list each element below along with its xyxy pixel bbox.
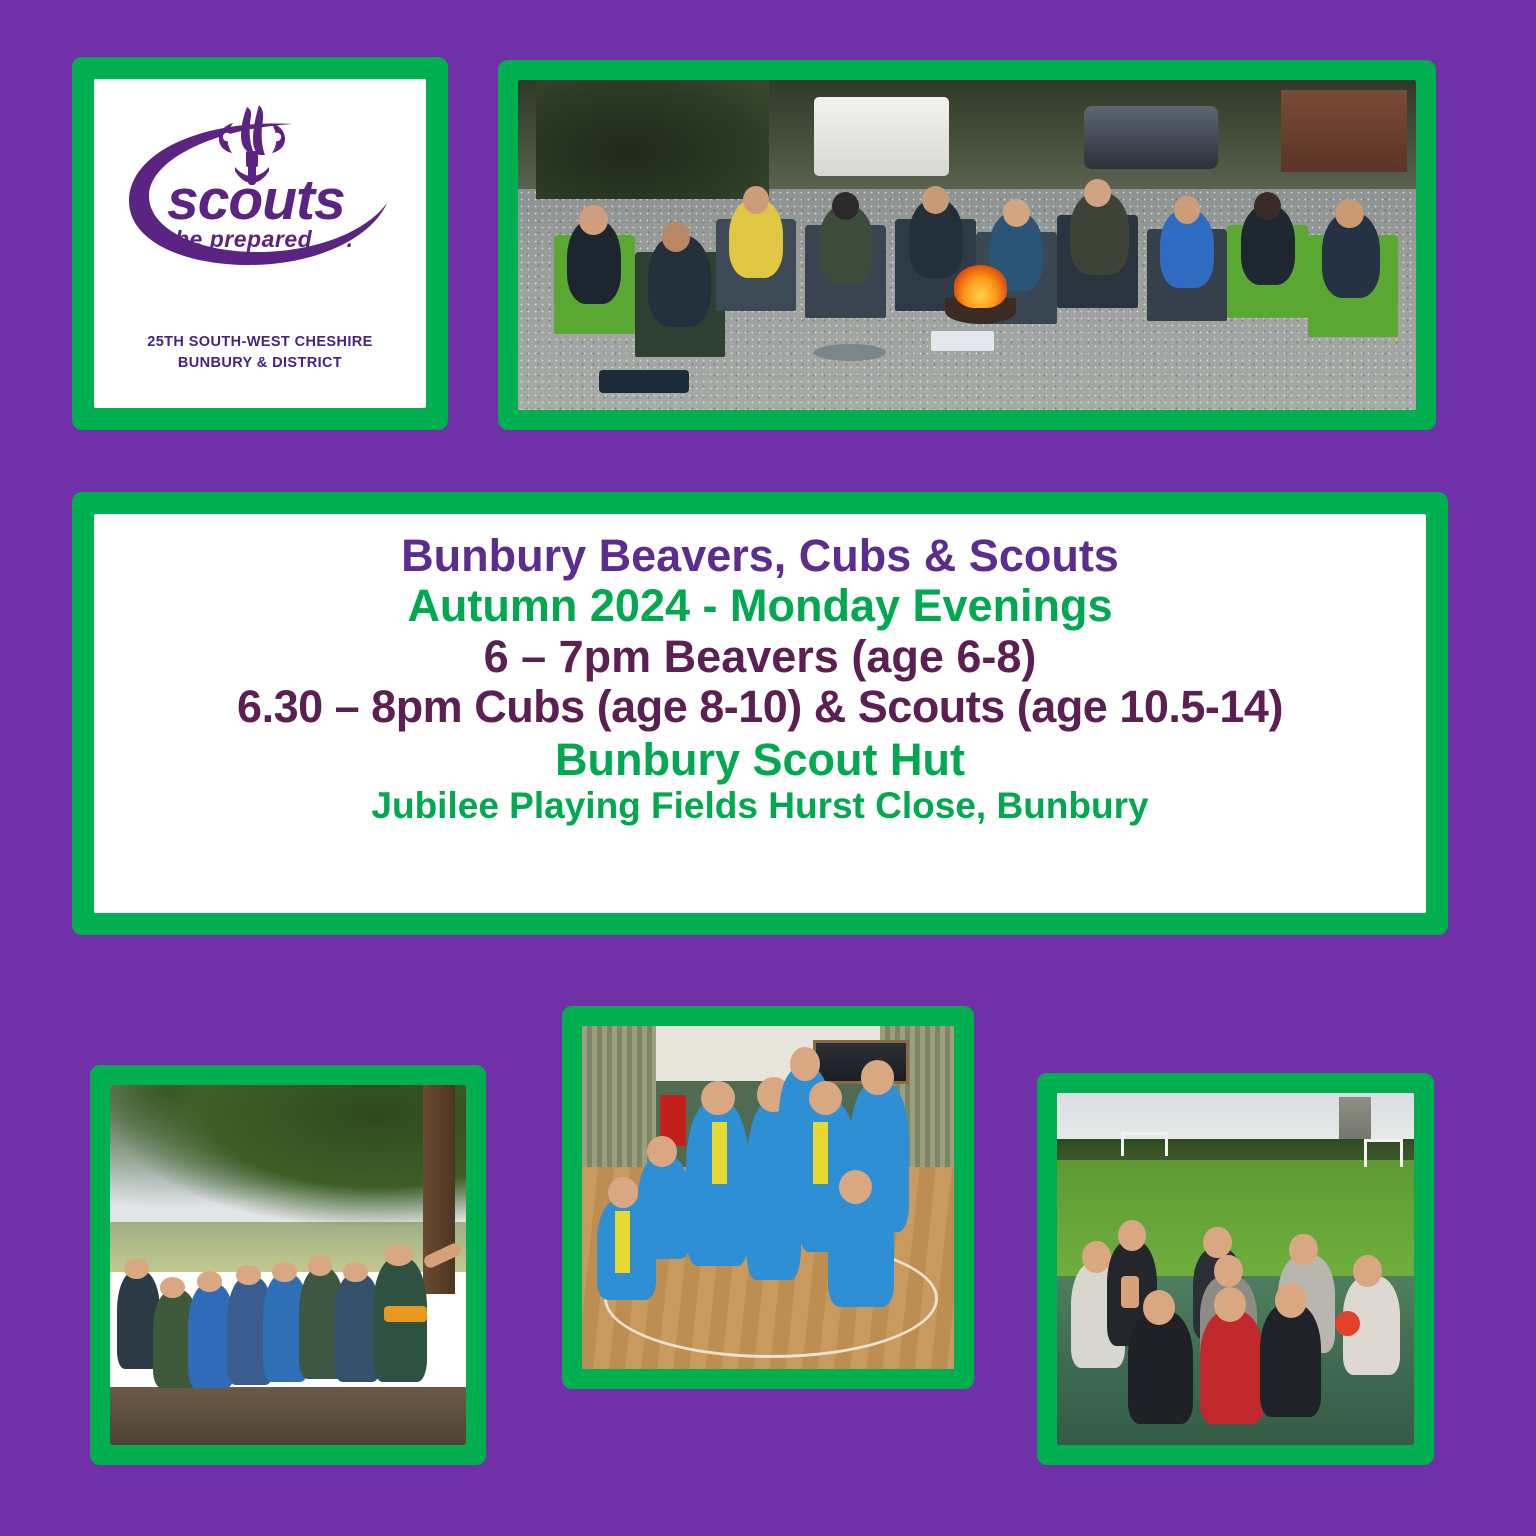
info-panel-inner: Bunbury Beavers, Cubs & Scouts Autumn 20… — [94, 514, 1426, 913]
campfire-scene — [518, 80, 1416, 410]
photo-campfire — [498, 60, 1436, 430]
info-line-beavers-time: 6 – 7pm Beavers (age 6-8) — [94, 632, 1426, 682]
logo-group-name: 25TH SOUTH-WEST CHESHIRE BUNBURY & DISTR… — [94, 332, 426, 374]
photo-campfire-image — [518, 80, 1416, 410]
svg-text:be prepared . . .: be prepared . . . — [175, 226, 354, 252]
hilltop-scene — [110, 1085, 466, 1445]
info-line-term: Autumn 2024 - Monday Evenings — [94, 581, 1426, 631]
logo-wrap: scouts be prepared . . . 25TH SOUTH-WEST… — [94, 79, 426, 408]
info-line-cubs-scouts-time: 6.30 – 8pm Cubs (age 8-10) & Scouts (age… — [94, 682, 1426, 732]
logo-group-line-2: BUNBURY & DISTRICT — [94, 353, 426, 374]
info-panel: Bunbury Beavers, Cubs & Scouts Autumn 20… — [72, 492, 1448, 935]
photo-hall-image — [582, 1026, 954, 1369]
photo-hilltop — [90, 1065, 486, 1465]
photo-hall — [562, 1006, 974, 1389]
field-scene — [1057, 1093, 1414, 1445]
info-line-title: Bunbury Beavers, Cubs & Scouts — [94, 531, 1426, 581]
svg-text:scouts: scouts — [167, 168, 345, 232]
scouts-logo-svg: scouts be prepared . . . — [115, 97, 405, 282]
photo-hilltop-image — [110, 1085, 466, 1445]
info-line-venue: Bunbury Scout Hut — [94, 735, 1426, 785]
photo-field-image — [1057, 1093, 1414, 1445]
info-line-address: Jubilee Playing Fields Hurst Close, Bunb… — [94, 785, 1426, 826]
info-text-block: Bunbury Beavers, Cubs & Scouts Autumn 20… — [94, 514, 1426, 913]
hall-scene — [582, 1026, 954, 1369]
scouts-wordmark-logo: scouts be prepared . . . — [115, 97, 405, 282]
logo-card-inner: scouts be prepared . . . 25TH SOUTH-WEST… — [94, 79, 426, 408]
photo-field — [1037, 1073, 1434, 1465]
scouts-logo-card: scouts be prepared . . . 25TH SOUTH-WEST… — [72, 57, 448, 430]
logo-group-line-1: 25TH SOUTH-WEST CHESHIRE — [94, 332, 426, 353]
